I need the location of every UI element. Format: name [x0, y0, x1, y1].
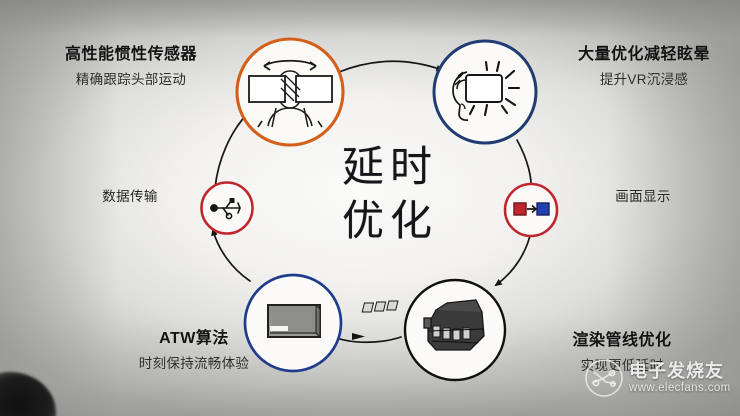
arc-display-to-render [496, 231, 531, 285]
arc-data-to-sensor [215, 113, 248, 188]
node-render-pipeline[interactable] [362, 280, 505, 380]
label-data-transmission: 数据传输 [62, 188, 198, 206]
label-inertial-sensor-subtitle: 精确跟踪头部运动 [18, 71, 244, 89]
arc-vr-to-display [517, 140, 531, 190]
label-atw-algorithm-title: ATW算法 [78, 328, 310, 350]
center-title: 延时 优化 [300, 140, 480, 248]
arc-atw-to-data [213, 230, 250, 281]
node-inertial-sensor[interactable] [237, 39, 343, 145]
center-title-line-1: 延时 [300, 140, 480, 194]
label-data-transmission-title: 数据传输 [62, 188, 198, 206]
label-vr-immersion: 大量优化减轻眩晕 提升VR沉浸感 [548, 44, 740, 89]
arc-arrowhead-bottom [352, 333, 365, 340]
label-atw-algorithm: ATW算法 时刻保持流畅体验 [78, 328, 310, 373]
node-display-output[interactable] [505, 184, 557, 236]
node-vr-immersion[interactable] [434, 41, 536, 143]
slide-photo: 高性能惯性传感器 精确跟踪头部运动 大量优化减轻眩晕 提升VR沉浸感 数据传输 … [0, 0, 740, 416]
label-inertial-sensor-title: 高性能惯性传感器 [18, 44, 244, 66]
node-data-transmission[interactable] [202, 183, 253, 234]
arc-render-to-atw [334, 337, 401, 342]
label-display-output: 画面显示 [580, 188, 706, 206]
label-render-pipeline: 渲染管线优化 实现更低延时 [514, 330, 730, 375]
label-vr-immersion-subtitle: 提升VR沉浸感 [548, 71, 740, 89]
arc-sensor-to-vr [339, 61, 442, 72]
label-inertial-sensor: 高性能惯性传感器 精确跟踪头部运动 [18, 44, 244, 89]
label-atw-algorithm-subtitle: 时刻保持流畅体验 [78, 355, 310, 373]
label-display-output-title: 画面显示 [580, 188, 706, 206]
label-vr-immersion-title: 大量优化减轻眩晕 [548, 44, 740, 66]
center-title-line-2: 优化 [300, 194, 480, 248]
label-render-pipeline-subtitle: 实现更低延时 [514, 357, 730, 375]
label-render-pipeline-title: 渲染管线优化 [514, 330, 730, 352]
